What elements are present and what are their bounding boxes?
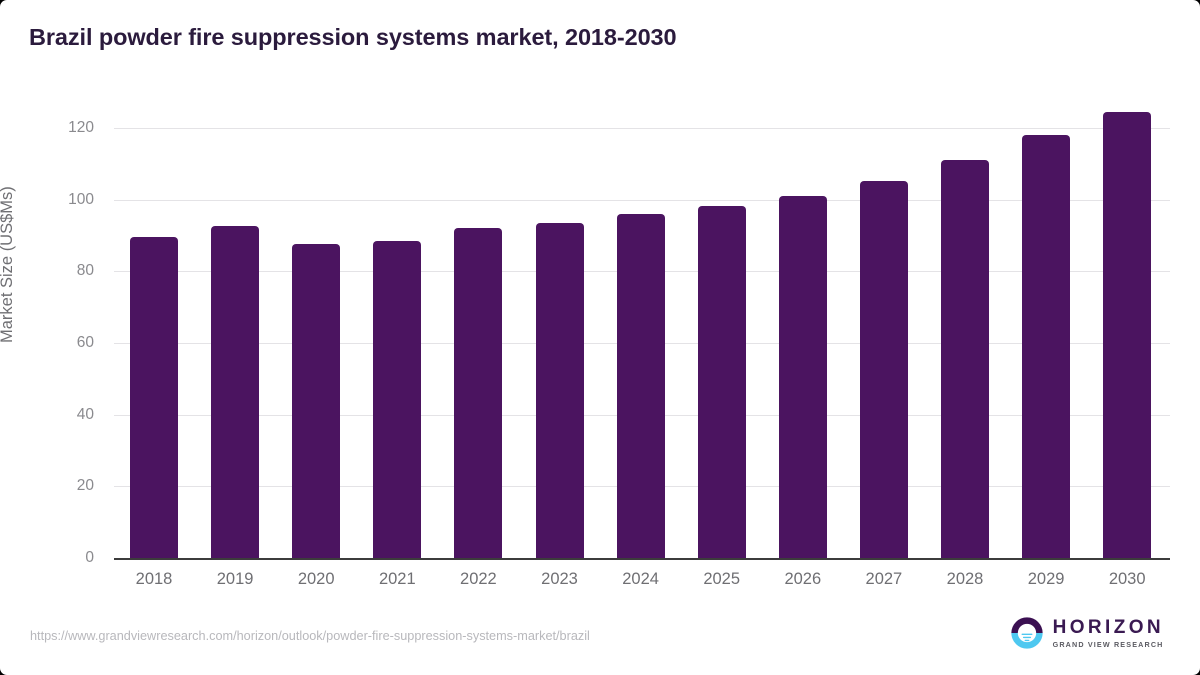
x-axis-ticks: 2018201920202021202220232024202520262027… <box>114 570 1170 600</box>
source-url[interactable]: https://www.grandviewresearch.com/horizo… <box>30 629 590 643</box>
y-axis-title: Market Size (US$Ms) <box>0 3 17 343</box>
x-tick-label: 2026 <box>768 570 838 589</box>
y-tick-label: 20 <box>77 477 94 495</box>
y-tick-label: 100 <box>68 191 94 209</box>
bar-2029[interactable] <box>1022 135 1070 558</box>
bar-2020[interactable] <box>292 244 340 558</box>
bar-2026[interactable] <box>779 196 827 558</box>
y-tick-label: 0 <box>85 549 94 567</box>
y-axis-ticks: 020406080100120 <box>0 0 114 675</box>
bar-2019[interactable] <box>211 226 259 558</box>
x-tick-label: 2019 <box>200 570 270 589</box>
bar-2021[interactable] <box>373 241 421 558</box>
bar-2018[interactable] <box>130 237 178 558</box>
x-tick-label: 2024 <box>606 570 676 589</box>
logo-title: HORIZON <box>1053 618 1164 637</box>
bar-2030[interactable] <box>1103 112 1151 558</box>
brand-logo: HORIZON GRAND VIEW RESEARCH <box>1010 616 1164 650</box>
x-tick-label: 2021 <box>362 570 432 589</box>
y-tick-label: 40 <box>77 406 94 424</box>
x-tick-label: 2027 <box>849 570 919 589</box>
horizon-logo-icon <box>1010 616 1044 650</box>
x-tick-label: 2029 <box>1011 570 1081 589</box>
x-tick-label: 2030 <box>1092 570 1162 589</box>
bar-2022[interactable] <box>454 228 502 558</box>
y-tick-label: 80 <box>77 262 94 280</box>
axis-line-x <box>114 558 1170 560</box>
bar-2024[interactable] <box>617 214 665 558</box>
chart-canvas: Brazil powder fire suppression systems m… <box>0 0 1200 675</box>
bar-2027[interactable] <box>860 181 908 558</box>
bar-2023[interactable] <box>536 223 584 558</box>
x-tick-label: 2023 <box>525 570 595 589</box>
bar-2025[interactable] <box>698 206 746 558</box>
y-tick-label: 120 <box>68 119 94 137</box>
x-tick-label: 2022 <box>443 570 513 589</box>
bar-series <box>114 100 1170 558</box>
plot-area <box>114 100 1170 558</box>
x-tick-label: 2025 <box>687 570 757 589</box>
page-title: Brazil powder fire suppression systems m… <box>29 24 676 51</box>
bar-2028[interactable] <box>941 160 989 558</box>
x-tick-label: 2028 <box>930 570 1000 589</box>
y-tick-label: 60 <box>77 334 94 352</box>
logo-tagline: GRAND VIEW RESEARCH <box>1053 641 1164 648</box>
x-tick-label: 2020 <box>281 570 351 589</box>
logo-text: HORIZON GRAND VIEW RESEARCH <box>1053 618 1164 648</box>
x-tick-label: 2018 <box>119 570 189 589</box>
